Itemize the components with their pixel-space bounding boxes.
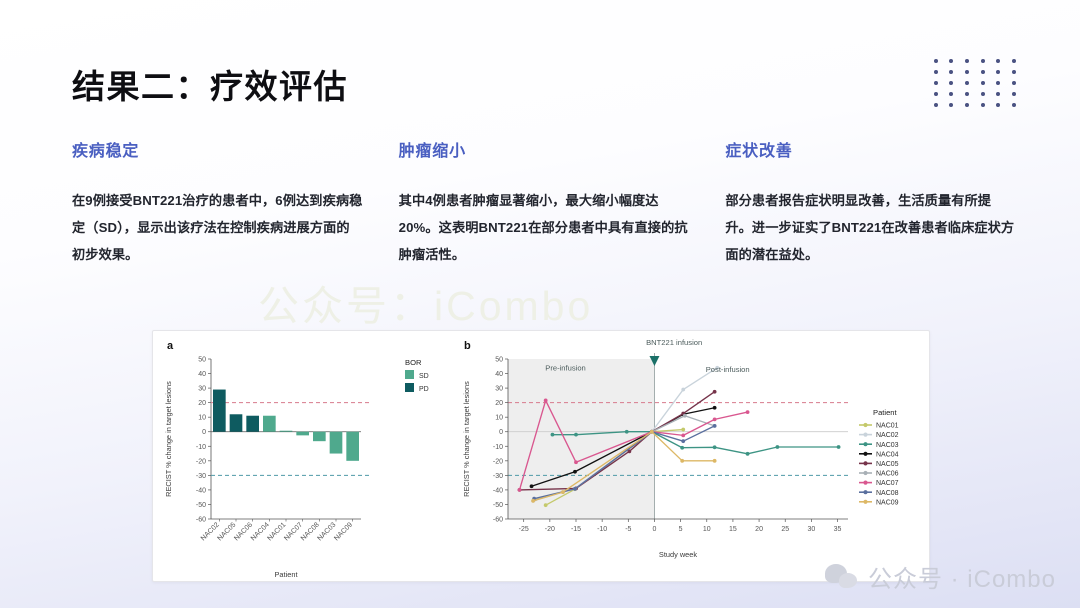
panel-b-x-tick-label: 10 [703, 526, 711, 533]
wechat-icon [825, 564, 859, 590]
panel-b-x-tick-label: -20 [545, 526, 555, 533]
panel-b-y-tick-label: 10 [495, 415, 503, 422]
panel-a-legend-swatch [405, 383, 414, 392]
panel-b-series-point [683, 414, 687, 418]
panel-b-legend-marker [863, 461, 867, 465]
panel-b-legend-label: NAC03 [876, 442, 899, 449]
panel-a-y-tick-label: 40 [198, 371, 206, 378]
panel-b-series-point [531, 499, 535, 503]
panel-a-x-axis-title: Patient [274, 570, 297, 579]
panel-b-series-point [681, 428, 685, 432]
panel-b-series-point [530, 484, 534, 488]
panel-a-y-axis-title: RECIST % change in target lesions [164, 381, 173, 497]
panel-b-series-point [680, 446, 684, 450]
panel-a-y-tick-label: -60 [196, 517, 206, 524]
panel-b-series-point [746, 410, 750, 414]
panel-a-y-tick-label: 10 [198, 415, 206, 422]
corner-watermark-label: 公众号 · iCombo [868, 559, 1056, 594]
panel-b-series-point [573, 470, 577, 474]
panel-b-series-point [713, 424, 717, 428]
column-body: 部分患者报告症状明显改善，生活质量有所提升。进一步证实了BNT221在改善患者临… [725, 187, 1016, 268]
panel-b-series-point [775, 445, 779, 449]
panel-b-y-tick-label: -60 [493, 517, 503, 524]
panel-b-series-point [713, 390, 717, 394]
panel-a-legend-swatch [405, 370, 414, 379]
panel-b-legend-title: Patient [873, 408, 898, 417]
panel-b-y-axis-title: RECIST % change in target lesions [462, 381, 471, 497]
panel-b-legend-marker [863, 471, 867, 475]
panel-b-region-annotation: Pre-infusion [545, 364, 586, 373]
panel-b-legend-label: NAC07 [876, 480, 899, 487]
panel-b-series-point [713, 445, 717, 449]
panel-b-region-annotation: Post-infusion [706, 365, 750, 374]
panel-a-bar [313, 432, 326, 441]
panel-b-series-point [837, 445, 841, 449]
center-watermark: 公众号：iCombo [258, 272, 593, 332]
panel-a-y-tick-label: 30 [198, 386, 206, 393]
panel-b-legend-marker [863, 433, 867, 437]
panel-b-legend-marker [863, 481, 867, 485]
panel-a-bar [213, 390, 226, 432]
panel-a-legend-title: BOR [405, 358, 422, 367]
panel-b-legend-label: NAC01 [876, 423, 899, 430]
panel-a-bar [346, 432, 359, 461]
panel-b-series-point [713, 459, 717, 463]
panel-b-x-tick-label: -15 [571, 526, 581, 533]
column-heading: 疾病稳定 [72, 137, 363, 161]
panel-b-y-tick-label: -10 [493, 444, 503, 451]
panel-b-y-tick-label: -50 [493, 502, 503, 509]
panel-b-series-point [680, 459, 684, 463]
column-disease-stable: 疾病稳定 在9例接受BNT221治疗的患者中，6例达到疾病稳定（SD），显示出该… [72, 137, 363, 268]
panel-b-series-point [681, 439, 685, 443]
panel-b-x-tick-label: -10 [597, 526, 607, 533]
panel-b-legend-label: NAC06 [876, 471, 899, 478]
panel-b-y-tick-label: 20 [495, 400, 503, 407]
panel-b-series-point [574, 433, 578, 437]
panel-b-x-tick-label: 30 [807, 526, 815, 533]
panel-b-series-point [544, 503, 548, 507]
panel-a-letter: a [167, 340, 174, 352]
panel-b-infusion-annotation: BNT221 infusion [646, 338, 702, 347]
panel-b-x-tick-label: -25 [519, 526, 529, 533]
panel-b-legend-marker [863, 500, 867, 504]
panel-a-y-tick-label: -10 [196, 444, 206, 451]
panel-a-legend-label: SD [419, 373, 429, 380]
panel-a-legend-label: PD [419, 386, 429, 393]
panel-b-x-tick-label: 15 [729, 526, 737, 533]
panel-a-bar [246, 416, 259, 432]
panel-a-bar [296, 432, 309, 436]
panel-a-y-tick-label: 50 [198, 357, 206, 364]
panel-b-x-tick-label: 25 [781, 526, 789, 533]
column-body: 在9例接受BNT221治疗的患者中，6例达到疾病稳定（SD），显示出该疗法在控制… [72, 187, 363, 268]
panel-a-y-tick-label: 0 [202, 429, 206, 436]
panel-a-bar [330, 432, 343, 454]
panel-b-legend-label: NAC09 [876, 499, 899, 506]
column-heading: 肿瘤缩小 [399, 137, 690, 161]
panel-a-bar [230, 414, 243, 431]
panel-b-letter: b [464, 340, 471, 352]
column-tumor-shrinkage: 肿瘤缩小 其中4例患者肿瘤显著缩小，最大缩小幅度达20%。这表明BNT221在部… [399, 137, 690, 268]
panel-a-y-tick-label: -40 [196, 487, 206, 494]
panel-b-series-point [574, 460, 578, 464]
panel-b-x-tick-label: 0 [653, 526, 657, 533]
panel-b-series-point [746, 452, 750, 456]
panel-b-legend-marker [863, 423, 867, 427]
panel-b-y-tick-label: 50 [495, 357, 503, 364]
panel-b-series-point [713, 417, 717, 421]
panel-b-x-axis-title: Study week [659, 550, 698, 559]
column-body: 其中4例患者肿瘤显著缩小，最大缩小幅度达20%。这表明BNT221在部分患者中具… [399, 187, 690, 268]
panel-b-x-tick-label: 5 [679, 526, 683, 533]
dot-grid-decoration [928, 55, 1022, 111]
panel-b-series-point [625, 430, 629, 434]
panel-a-x-tick-label: NAC09 [333, 521, 354, 542]
panel-b-legend-label: NAC08 [876, 490, 899, 497]
panel-b-x-tick-label: 35 [834, 526, 842, 533]
figure-card: a50403020100-10-20-30-40-50-60NAC02NAC05… [152, 330, 930, 582]
content-columns: 疾病稳定 在9例接受BNT221治疗的患者中，6例达到疾病稳定（SD），显示出该… [72, 137, 1016, 268]
panel-b-series-point [573, 487, 577, 491]
panel-b-legend-label: NAC05 [876, 461, 899, 468]
panel-b-y-tick-label: 40 [495, 371, 503, 378]
panel-b-y-tick-label: 30 [495, 386, 503, 393]
panel-b-x-tick-label: -5 [625, 526, 631, 533]
panel-a-y-tick-label: -50 [196, 502, 206, 509]
page-title: 结果二：疗效评估 [72, 60, 348, 108]
panel-a-y-tick-label: -20 [196, 458, 206, 465]
figure-svg: a50403020100-10-20-30-40-50-60NAC02NAC05… [153, 331, 931, 583]
panel-b-series-point [561, 490, 565, 494]
panel-b-y-tick-label: 0 [499, 429, 503, 436]
panel-b-legend-marker [863, 490, 867, 494]
panel-b-y-tick-label: -40 [493, 487, 503, 494]
panel-b-series-point [681, 388, 685, 392]
panel-b-x-tick-label: 20 [755, 526, 763, 533]
panel-b-series-point [681, 433, 685, 437]
corner-watermark: 公众号 · iCombo [825, 559, 1056, 594]
panel-a-y-tick-label: 20 [198, 400, 206, 407]
panel-a-y-tick-label: -30 [196, 473, 206, 480]
panel-a-bar [280, 431, 293, 432]
panel-b-series-point [551, 433, 555, 437]
panel-b-series-point [544, 399, 548, 403]
panel-a-bar [263, 416, 276, 432]
panel-b-y-tick-label: -30 [493, 473, 503, 480]
column-symptom-improvement: 症状改善 部分患者报告症状明显改善，生活质量有所提升。进一步证实了BNT221在… [725, 137, 1016, 268]
panel-b-series-point [713, 406, 717, 410]
panel-b-legend-label: NAC04 [876, 451, 899, 458]
panel-b-legend-marker [863, 442, 867, 446]
slide-root: 结果二：疗效评估 疾病稳定 在9例接受BNT221治疗的患者中，6例达到疾病稳定… [0, 0, 1080, 608]
panel-b-y-tick-label: -20 [493, 458, 503, 465]
panel-b-legend-label: NAC02 [876, 432, 899, 439]
panel-b-series-point [518, 488, 522, 492]
panel-b-legend-marker [863, 452, 867, 456]
panel-b-series-point [650, 430, 654, 434]
column-heading: 症状改善 [725, 137, 1016, 161]
